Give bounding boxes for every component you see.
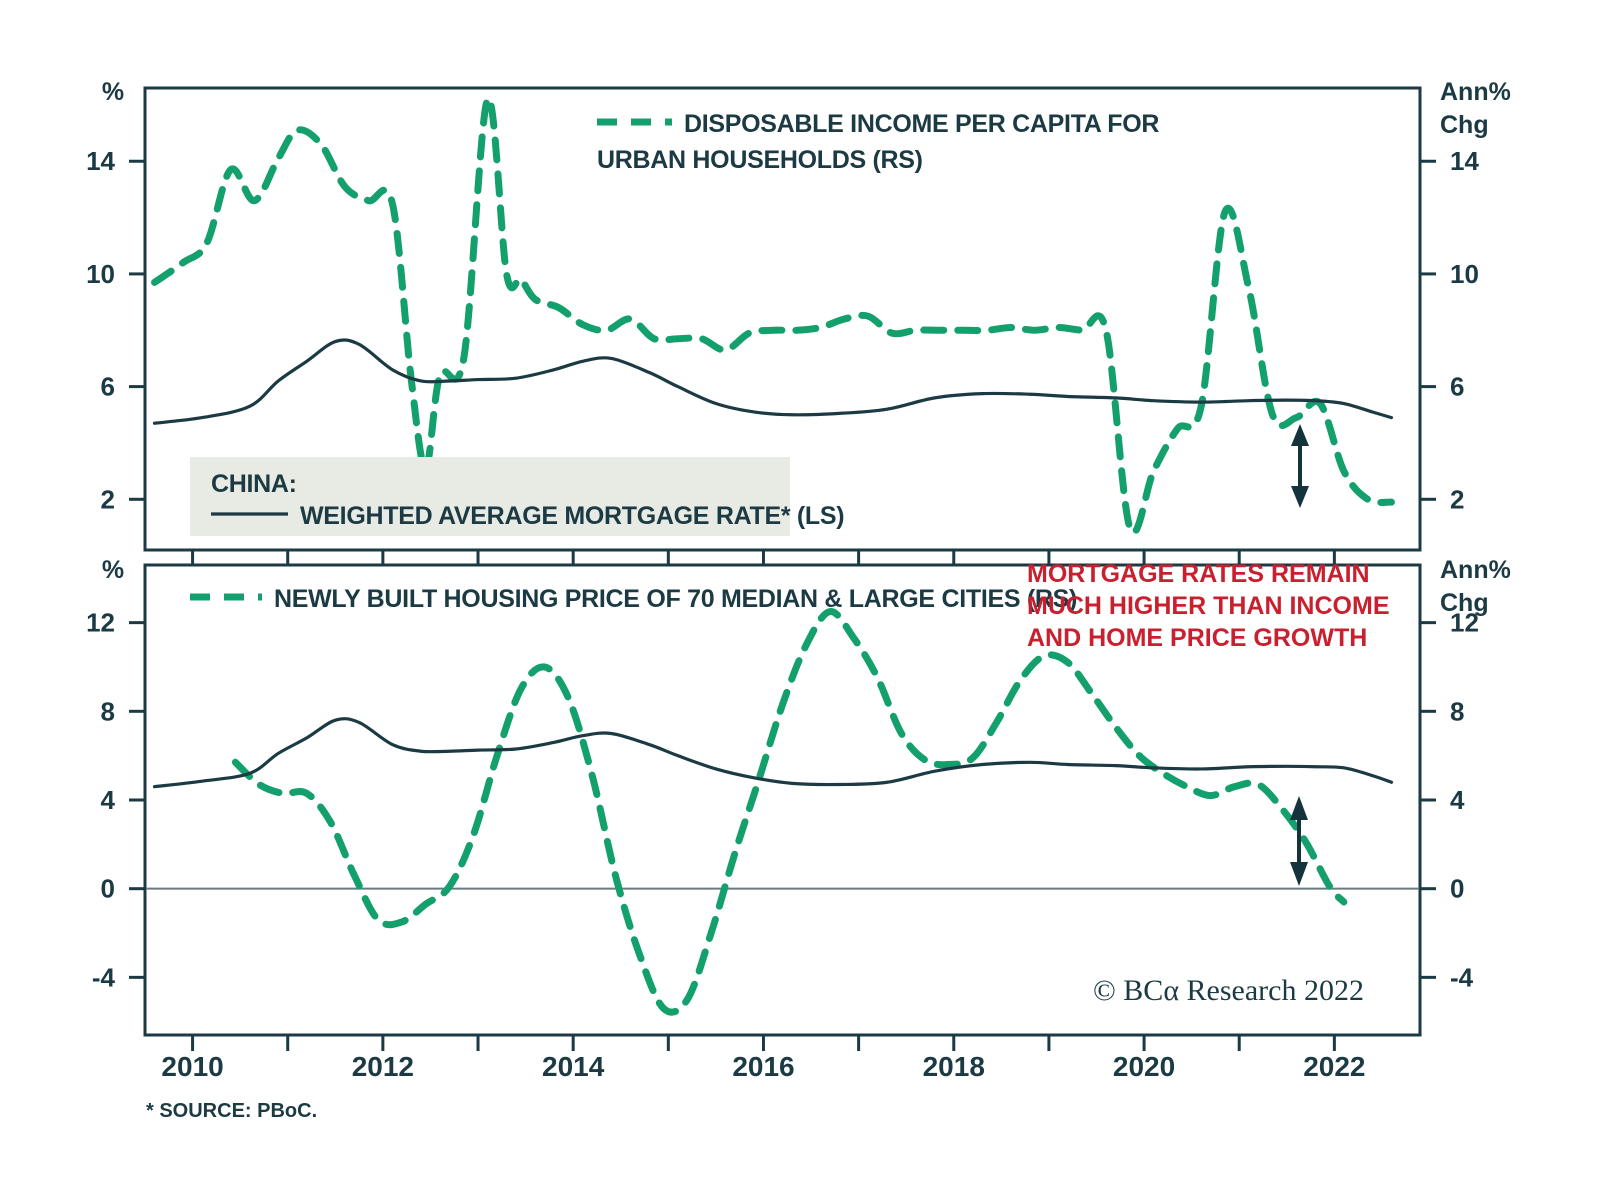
top-gap-arrow-annotation (1291, 424, 1309, 508)
y-tick-label-left: 10 (86, 259, 115, 289)
x-axis-label: 2012 (352, 1051, 414, 1082)
callout-line-3: AND HOME PRICE GROWTH (1027, 624, 1367, 652)
y-tick-label-left: 6 (101, 372, 115, 402)
x-axis-label: 2020 (1113, 1051, 1175, 1082)
x-axis-label: 2010 (161, 1051, 223, 1082)
bottom-panel-x-ticks (193, 1035, 1335, 1051)
top-panel-left-ticks (129, 161, 145, 499)
legend-label-income-line2: URBAN HOUSEHOLDS (RS) (597, 146, 923, 174)
x-axis-tick-labels: 2010201220142016201820202022 (161, 1051, 1365, 1082)
bottom-panel-left-ticks (129, 623, 145, 978)
series-housing-price-line (235, 612, 1343, 1013)
legend-label-housing-price: NEWLY BUILT HOUSING PRICE OF 70 MEDIAN &… (274, 585, 1077, 613)
source-note: * SOURCE: PBoC. (146, 1100, 317, 1122)
x-axis-label: 2014 (542, 1051, 605, 1082)
y-tick-label-right: 14 (1450, 146, 1479, 176)
top-right-axis-unit-line1: Ann% (1440, 78, 1511, 106)
bottom-left-tick-labels: 12840-4 (86, 608, 115, 993)
y-tick-label-left: 4 (101, 785, 116, 815)
bottom-panel: % Ann% Chg 12840-4 12840-4 NEWLY BUILT H… (86, 556, 1511, 1051)
top-legend-box: CHINA: WEIGHTED AVERAGE MORTGAGE RATE* (… (190, 457, 844, 536)
chart-figure: % Ann% Chg 141062 141062 DISPOSABLE INCO… (0, 0, 1600, 1195)
x-axis-label: 2016 (732, 1051, 794, 1082)
y-tick-label-right: 6 (1450, 372, 1464, 402)
bca-research-credit: © BCα Research 2022 (1093, 974, 1364, 1007)
y-tick-label-right: 12 (1450, 608, 1479, 638)
legend-label-mortgage-rate: WEIGHTED AVERAGE MORTGAGE RATE* (LS) (300, 502, 844, 530)
y-tick-label-left: 2 (101, 484, 115, 514)
bottom-right-tick-labels: 12840-4 (1450, 608, 1479, 993)
callout-line-2: MUCH HIGHER THAN INCOME (1027, 592, 1390, 620)
y-tick-label-right: 4 (1450, 785, 1465, 815)
legend-box-title: CHINA: (211, 470, 297, 498)
y-tick-label-right: 2 (1450, 484, 1464, 514)
y-tick-label-left: 12 (86, 608, 115, 638)
y-tick-label-left: 8 (101, 696, 115, 726)
top-panel: % Ann% Chg 141062 141062 DISPOSABLE INCO… (86, 78, 1511, 566)
y-tick-label-right: 0 (1450, 874, 1464, 904)
top-left-tick-labels: 141062 (86, 146, 115, 514)
y-tick-label-right: 8 (1450, 696, 1464, 726)
top-legend-dashed: DISPOSABLE INCOME PER CAPITA FOR URBAN H… (597, 110, 1159, 174)
bottom-right-axis-unit-line1: Ann% (1440, 556, 1511, 584)
callout-line-1: MORTGAGE RATES REMAIN (1027, 560, 1370, 588)
chart-canvas: % Ann% Chg 141062 141062 DISPOSABLE INCO… (0, 0, 1600, 1195)
top-panel-right-ticks (1420, 161, 1436, 499)
top-right-tick-labels: 141062 (1450, 146, 1479, 514)
bottom-legend-dashed: NEWLY BUILT HOUSING PRICE OF 70 MEDIAN &… (190, 585, 1077, 613)
x-axis-label: 2022 (1303, 1051, 1365, 1082)
y-tick-label-right: -4 (1450, 962, 1474, 992)
x-axis-label: 2018 (923, 1051, 985, 1082)
y-tick-label-right: 10 (1450, 259, 1479, 289)
top-left-axis-unit: % (102, 78, 124, 106)
bottom-left-axis-unit: % (102, 556, 124, 584)
bottom-panel-right-ticks (1420, 623, 1436, 978)
legend-label-income-line1: DISPOSABLE INCOME PER CAPITA FOR (684, 110, 1159, 138)
callout-annotation: MORTGAGE RATES REMAIN MUCH HIGHER THAN I… (1027, 560, 1390, 652)
y-tick-label-left: 14 (86, 146, 115, 176)
y-tick-label-left: -4 (92, 962, 116, 992)
y-tick-label-left: 0 (101, 874, 115, 904)
top-right-axis-unit-line2: Chg (1440, 111, 1489, 139)
